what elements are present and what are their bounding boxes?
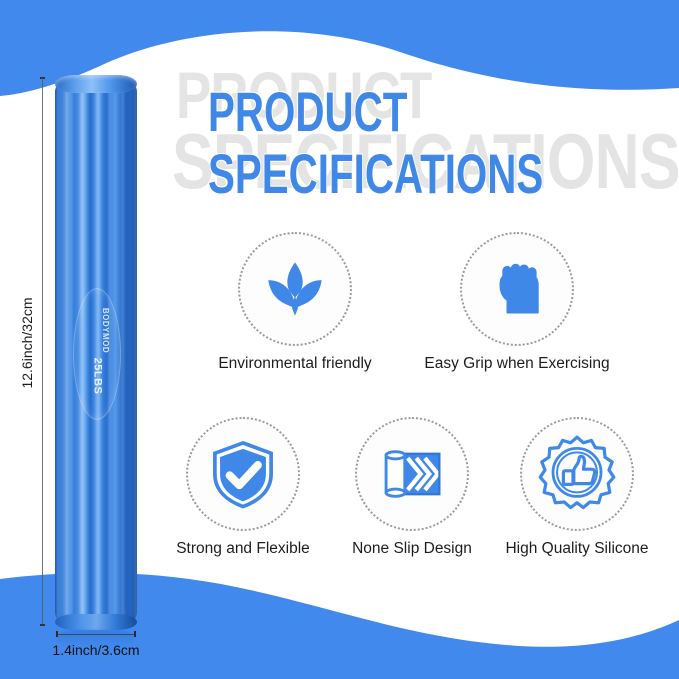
- feature-label: Strong and Flexible: [152, 540, 334, 557]
- length-dimension-cap-bottom: [40, 624, 45, 626]
- page-title: PRODUCT SPECIFICATIONS PRODUCT SPECIFICA…: [176, 62, 646, 202]
- leaf-icon: [258, 252, 332, 326]
- weight-emboss-text: 25LBS: [91, 358, 103, 395]
- emboss-oval: [73, 288, 121, 420]
- length-dimension-line: [42, 78, 43, 626]
- rolled-mat-icon: [376, 438, 448, 510]
- feature-label: None Slip Design: [329, 540, 495, 557]
- title-line2: SPECIFICATIONS: [208, 146, 543, 202]
- feature-icon-circle: [186, 417, 300, 531]
- product-image-stretch-bar: BODYMOD 25LBS: [55, 78, 137, 626]
- diameter-dimension-line: [57, 634, 135, 635]
- feature-high-quality-silicone: High Quality Silicone: [520, 417, 634, 557]
- title-line1: PRODUCT: [208, 84, 407, 140]
- bar-bottom-cap: [55, 614, 137, 630]
- feature-label: Easy Grip when Exercising: [412, 355, 622, 372]
- quality-badge-icon: [537, 434, 617, 514]
- bar-top-cap: [55, 75, 137, 93]
- feature-strong-flexible: Strong and Flexible: [186, 417, 300, 557]
- brand-emboss-text: BODYMOD: [101, 308, 110, 353]
- diameter-dimension-cap-right: [134, 631, 136, 637]
- feature-icon-circle: [460, 232, 574, 346]
- feature-icon-circle: [238, 232, 352, 346]
- feature-label: High Quality Silicone: [490, 540, 664, 557]
- length-dimension-label: 12.6inch/32cm: [19, 283, 35, 403]
- product-specifications-infographic: PRODUCT SPECIFICATIONS PRODUCT SPECIFICA…: [0, 0, 679, 679]
- feature-icon-circle: [355, 417, 469, 531]
- feature-easy-grip: Easy Grip when Exercising: [460, 232, 574, 372]
- fist-icon: [482, 254, 552, 324]
- feature-none-slip-design: None Slip Design: [355, 417, 469, 557]
- feature-label: Environmental friendly: [193, 355, 397, 372]
- feature-icon-circle: [520, 417, 634, 531]
- diameter-dimension-label: 1.4inch/3.6cm: [34, 642, 158, 658]
- shield-check-icon: [206, 437, 280, 511]
- feature-environmental-friendly: Environmental friendly: [238, 232, 352, 372]
